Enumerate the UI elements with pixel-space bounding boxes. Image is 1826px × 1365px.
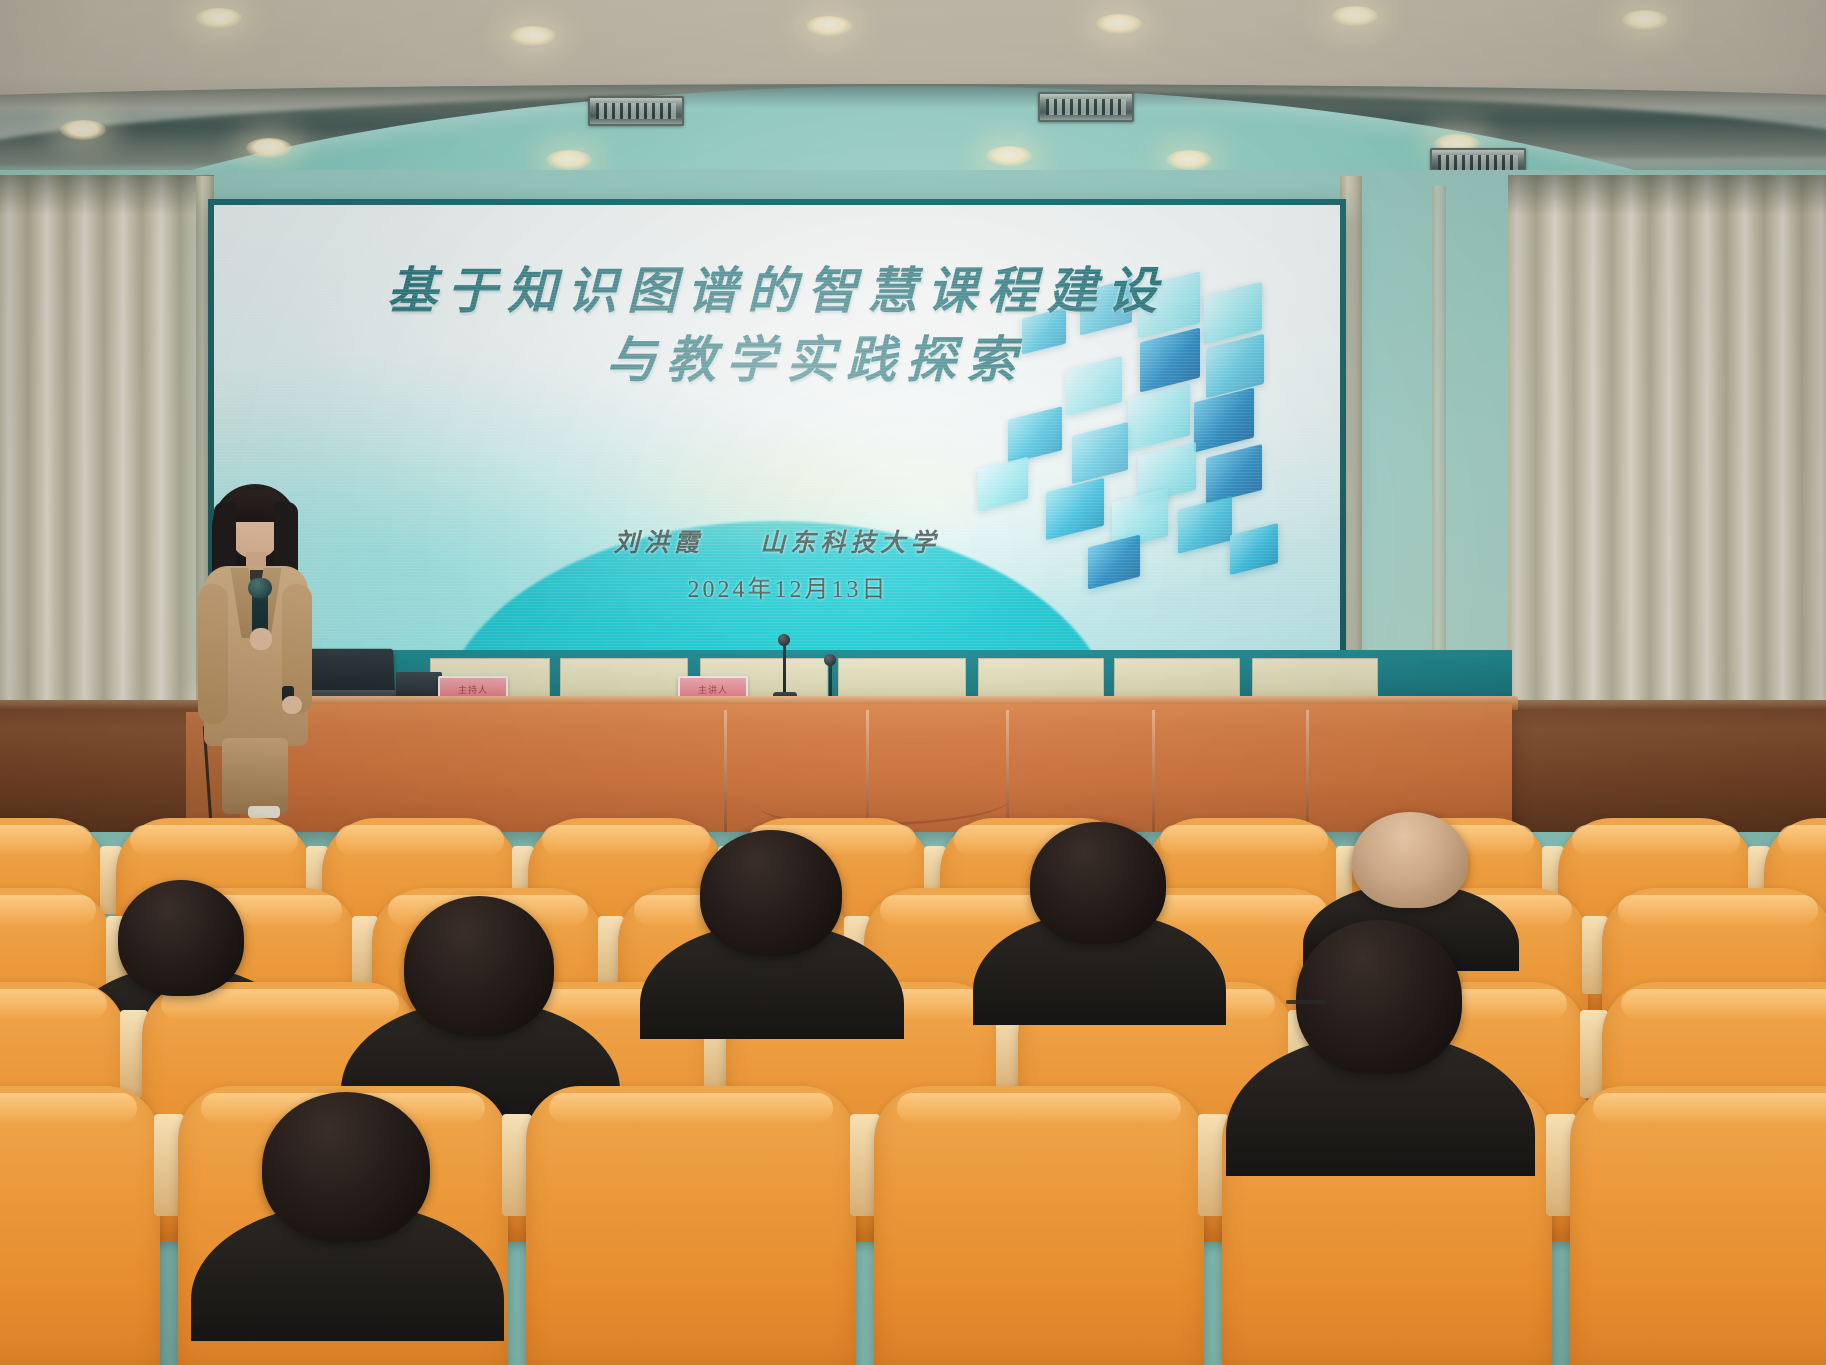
- desk-seam-5: [1306, 710, 1309, 832]
- presenter-figure: [196, 480, 326, 828]
- eyeglasses-icon: [1286, 1000, 1326, 1004]
- presenter-affiliation: 山东科技大学: [760, 530, 940, 557]
- air-vent-2: [1038, 92, 1134, 122]
- audience-seat[interactable]: [526, 1086, 856, 1365]
- ceiling-inner-edge: [0, 84, 1826, 108]
- slide-title: 基于知识图谱的智慧课程建设 与教学实践探索: [214, 257, 1340, 395]
- curtain-left-top-shadow: [0, 175, 214, 215]
- slide-cube-9: [1194, 388, 1254, 453]
- desk-seam-1: [724, 710, 727, 832]
- downlight-9: [986, 146, 1032, 166]
- microphone-head-icon: [248, 578, 272, 598]
- slide-byline: 刘洪霞 山东科技大学: [214, 523, 1340, 559]
- audience-seat[interactable]: [874, 1086, 1204, 1365]
- desk-seam-4: [1152, 710, 1155, 832]
- slide-title-line1: 基于知识图谱的智慧课程建设: [387, 263, 1167, 319]
- downlight-12: [60, 120, 106, 140]
- audience-member-head: [118, 880, 244, 996]
- audience-member-head: [1352, 812, 1468, 908]
- presenter-arm-left: [198, 584, 228, 724]
- downlight-7: [246, 138, 292, 158]
- downlight-1: [196, 8, 242, 28]
- audience-member-head: [1030, 822, 1166, 944]
- presenter-lower-body: [222, 738, 288, 814]
- auditorium-scene: 基于知识图谱的智慧课程建设 与教学实践探索 刘洪霞 山东科技大学 2024年12…: [0, 0, 1826, 1365]
- presenter-shoes: [248, 806, 280, 818]
- audience-member-head: [700, 830, 842, 956]
- downlight-2: [510, 26, 556, 46]
- downlight-5: [1332, 6, 1378, 26]
- slide-cube-11: [1072, 422, 1128, 484]
- audience-member-head: [404, 896, 554, 1036]
- presentation-slide[interactable]: 基于知识图谱的智慧课程建设 与教学实践探索 刘洪霞 山东科技大学 2024年12…: [214, 205, 1340, 671]
- slide-cube-10: [1008, 406, 1062, 463]
- slide-cube-13: [1206, 444, 1262, 504]
- downlight-6: [1622, 10, 1668, 30]
- presenter-name: 刘洪霞: [614, 530, 704, 557]
- audience-member-head: [262, 1092, 430, 1242]
- presenter-hand-mic: [250, 628, 272, 650]
- desk-equipment-box: [396, 672, 442, 698]
- presenter-hand-clicker: [282, 696, 302, 714]
- nameplate-label-2: 主讲人: [680, 683, 746, 696]
- downlight-3: [806, 16, 852, 36]
- desk-seam-3: [1006, 710, 1009, 832]
- downlight-8: [546, 150, 592, 170]
- downlight-4: [1096, 14, 1142, 34]
- audience-seat[interactable]: [1570, 1086, 1826, 1365]
- nameplate-label-1: 主持人: [440, 683, 506, 696]
- led-screen-frame: 基于知识图谱的智慧课程建设 与教学实践探索 刘洪霞 山东科技大学 2024年12…: [208, 199, 1346, 677]
- audience-member-head: [1296, 920, 1462, 1074]
- air-vent-1: [588, 96, 684, 126]
- slide-cube-14: [978, 457, 1028, 511]
- slide-date: 2024年12月13日: [214, 569, 1340, 604]
- gooseneck-mic-stem-1: [783, 644, 786, 696]
- curtain-right-top-shadow: [1508, 175, 1826, 215]
- audience-seat[interactable]: [0, 1086, 160, 1365]
- downlight-10: [1166, 150, 1212, 170]
- slide-title-line2: 与教学实践探索: [214, 326, 1340, 395]
